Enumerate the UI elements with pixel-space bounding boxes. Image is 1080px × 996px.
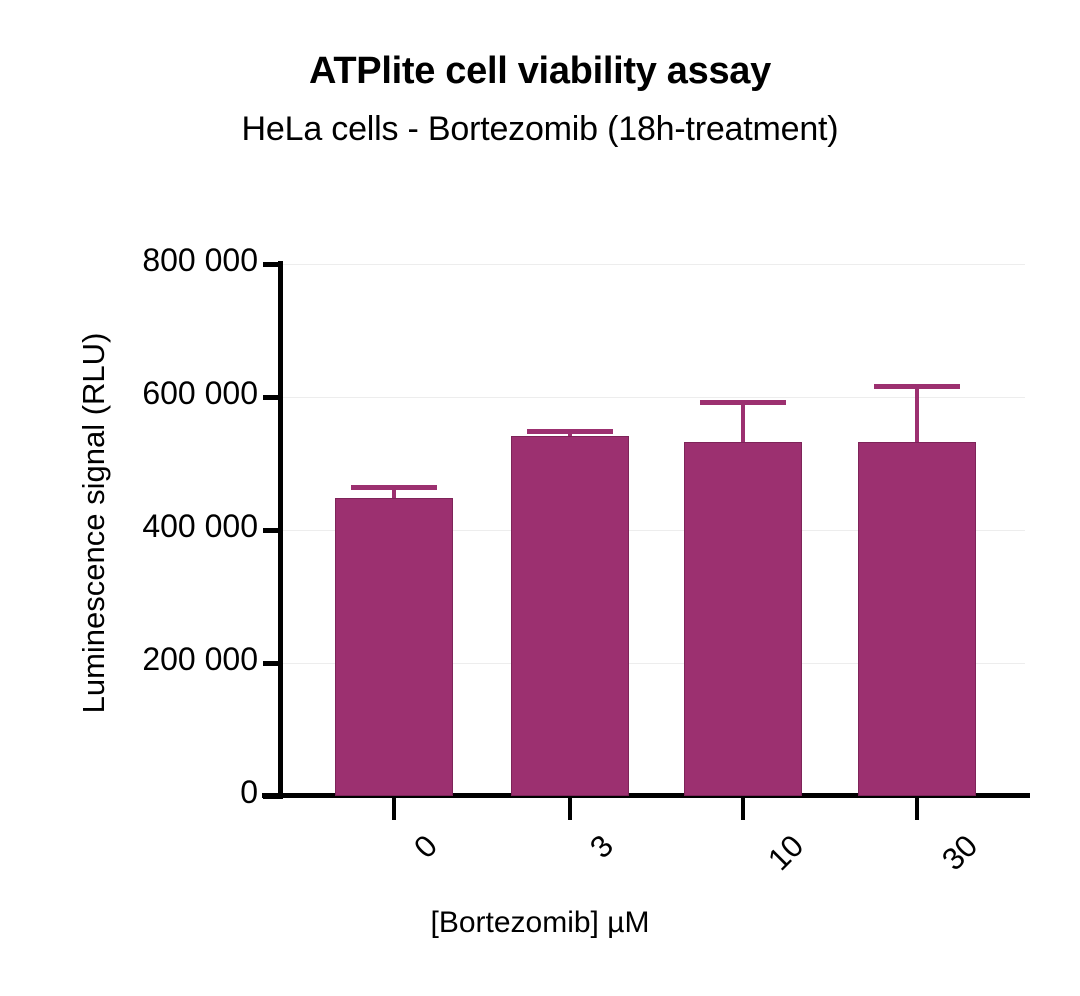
x-axis-tick-label: 10: [761, 828, 811, 878]
error-bar-line: [915, 384, 919, 442]
y-axis-tick: [263, 395, 280, 400]
bar: [335, 498, 453, 796]
y-axis-tick-label: 0: [58, 774, 258, 811]
x-axis-tick-label: 0: [407, 828, 445, 866]
bar: [511, 436, 629, 796]
x-axis-tick: [392, 798, 396, 820]
error-bar-cap: [527, 429, 613, 434]
y-axis-tick-label: 800 000: [58, 242, 258, 279]
x-axis-tick: [741, 798, 745, 820]
y-axis-tick-label: 200 000: [58, 641, 258, 678]
error-bar-cap: [351, 485, 437, 490]
gridline: [283, 264, 1025, 265]
bar: [684, 442, 802, 796]
error-bar-line: [741, 400, 745, 442]
y-axis-tick: [263, 661, 280, 666]
bar: [858, 442, 976, 796]
x-axis-tick-label: 3: [583, 828, 621, 866]
y-axis-tick: [263, 794, 280, 799]
y-axis-tick: [263, 528, 280, 533]
error-bar-cap: [700, 400, 786, 405]
y-axis-tick-label: 600 000: [58, 375, 258, 412]
x-axis-tick: [915, 798, 919, 820]
x-axis-tick: [568, 798, 572, 820]
y-axis-tick-labels: 800 000600 000400 000200 0000: [50, 0, 258, 996]
y-axis-tick: [263, 262, 280, 267]
error-bar-cap: [874, 384, 960, 389]
y-axis-tick-label: 400 000: [58, 508, 258, 545]
x-axis-tick-label: 30: [935, 828, 985, 878]
gridline: [283, 397, 1025, 398]
